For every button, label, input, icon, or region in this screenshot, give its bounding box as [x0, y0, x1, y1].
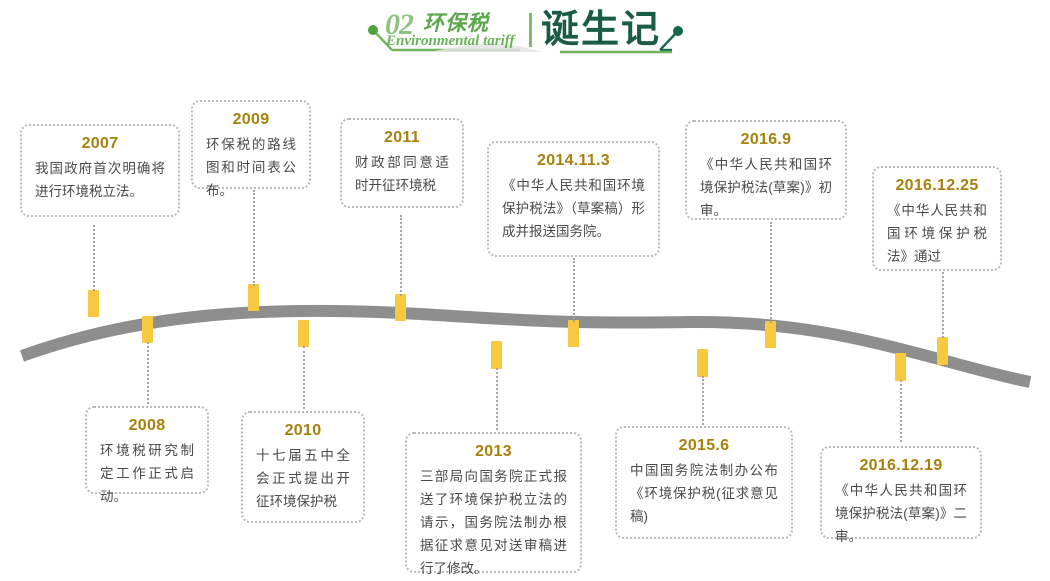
timeline-card-2014-11-3[interactable]: 2014.11.3 《中华人民共和国环境保护税法》（草案稿）形成并报送国务院。	[487, 141, 660, 257]
timeline-leader-line	[400, 215, 402, 296]
card-body: 中国国务院法制办公布《环境保护税(征求意见稿)	[630, 459, 778, 528]
timeline-marker	[142, 316, 153, 343]
timeline-marker	[568, 320, 579, 347]
header-divider	[529, 13, 532, 47]
card-body: 《中华人民共和国环境保护税法》（草案稿）形成并报送国务院。	[502, 174, 645, 243]
card-body: 《中华人民共和国环境保护税法(草案)》初审。	[700, 153, 832, 222]
card-body: 《中华人民共和国环境保护税法(草案)》二审。	[835, 479, 967, 548]
page-title: 诞生记	[541, 10, 661, 50]
card-body: 环境税研究制定工作正式启动。	[100, 439, 194, 508]
timeline-leader-line	[496, 368, 498, 430]
card-year: 2009	[206, 111, 296, 129]
card-year: 2013	[420, 443, 567, 461]
timeline-card-2009[interactable]: 2009 环保税的路线图和时间表公布。	[191, 100, 311, 189]
header-badge-english: Environmental tariff	[386, 33, 515, 50]
timeline-leader-line	[770, 222, 772, 323]
card-year: 2011	[355, 129, 449, 147]
timeline-card-2010[interactable]: 2010 十七届五中全会正式提出开征环境保护税	[241, 411, 365, 523]
page-header: 02 环保税 Environmental tariff 诞生记	[0, 0, 1050, 62]
card-body: 环保税的路线图和时间表公布。	[206, 133, 296, 202]
card-body: 我国政府首次明确将进行环境税立法。	[35, 157, 165, 203]
timeline-card-2015-6[interactable]: 2015.6 中国国务院法制办公布《环境保护税(征求意见稿)	[615, 426, 793, 539]
card-year: 2016.9	[700, 131, 832, 149]
header-badge: 02 环保税 Environmental tariff	[385, 6, 525, 54]
card-year: 2008	[100, 417, 194, 435]
timeline-marker	[491, 341, 502, 369]
timeline-leader-line	[573, 258, 575, 322]
timeline-marker	[765, 321, 776, 348]
timeline-leader-line	[253, 190, 255, 286]
timeline-card-2008[interactable]: 2008 环境税研究制定工作正式启动。	[85, 406, 209, 494]
card-year: 2016.12.19	[835, 457, 967, 475]
card-year: 2016.12.25	[887, 177, 987, 195]
card-year: 2007	[35, 135, 165, 153]
timeline-curve	[0, 270, 1050, 400]
timeline-leader-line	[900, 380, 902, 442]
card-year: 2010	[256, 422, 350, 440]
timeline-marker	[298, 320, 309, 347]
timeline-leader-line	[702, 376, 704, 425]
timeline-card-2016-9[interactable]: 2016.9 《中华人民共和国环境保护税法(草案)》初审。	[685, 120, 847, 220]
card-body: 十七届五中全会正式提出开征环境保护税	[256, 444, 350, 513]
timeline-marker	[248, 284, 259, 311]
timeline-marker	[937, 337, 948, 365]
timeline-card-2016-12-25[interactable]: 2016.12.25 《中华人民共和国环境保护税法》通过	[872, 166, 1002, 271]
timeline-leader-line	[147, 342, 149, 404]
timeline-leader-line	[303, 346, 305, 409]
timeline-card-2016-12-19[interactable]: 2016.12.19 《中华人民共和国环境保护税法(草案)》二审。	[820, 446, 982, 539]
timeline-marker	[395, 294, 406, 321]
infographic-canvas: 02 环保税 Environmental tariff 诞生记	[0, 0, 1050, 581]
timeline-leader-line	[942, 272, 944, 338]
timeline-marker	[697, 349, 708, 377]
card-body: 《中华人民共和国环境保护税法》通过	[887, 199, 987, 268]
timeline-card-2013[interactable]: 2013 三部局向国务院正式报送了环境保护税立法的请示，国务院法制办根据征求意见…	[405, 432, 582, 573]
card-year: 2014.11.3	[502, 152, 645, 170]
timeline-card-2007[interactable]: 2007 我国政府首次明确将进行环境税立法。	[20, 124, 180, 217]
timeline-card-2011[interactable]: 2011 财政部同意适时开征环境税	[340, 118, 464, 208]
card-body: 财政部同意适时开征环境税	[355, 151, 449, 197]
timeline-marker	[895, 353, 906, 381]
timeline-leader-line	[93, 225, 95, 291]
card-year: 2015.6	[630, 437, 778, 455]
card-body: 三部局向国务院正式报送了环境保护税立法的请示，国务院法制办根据征求意见对送审稿进…	[420, 465, 567, 580]
header-title-group: 02 环保税 Environmental tariff 诞生记	[385, 4, 675, 56]
timeline-marker	[88, 290, 99, 317]
